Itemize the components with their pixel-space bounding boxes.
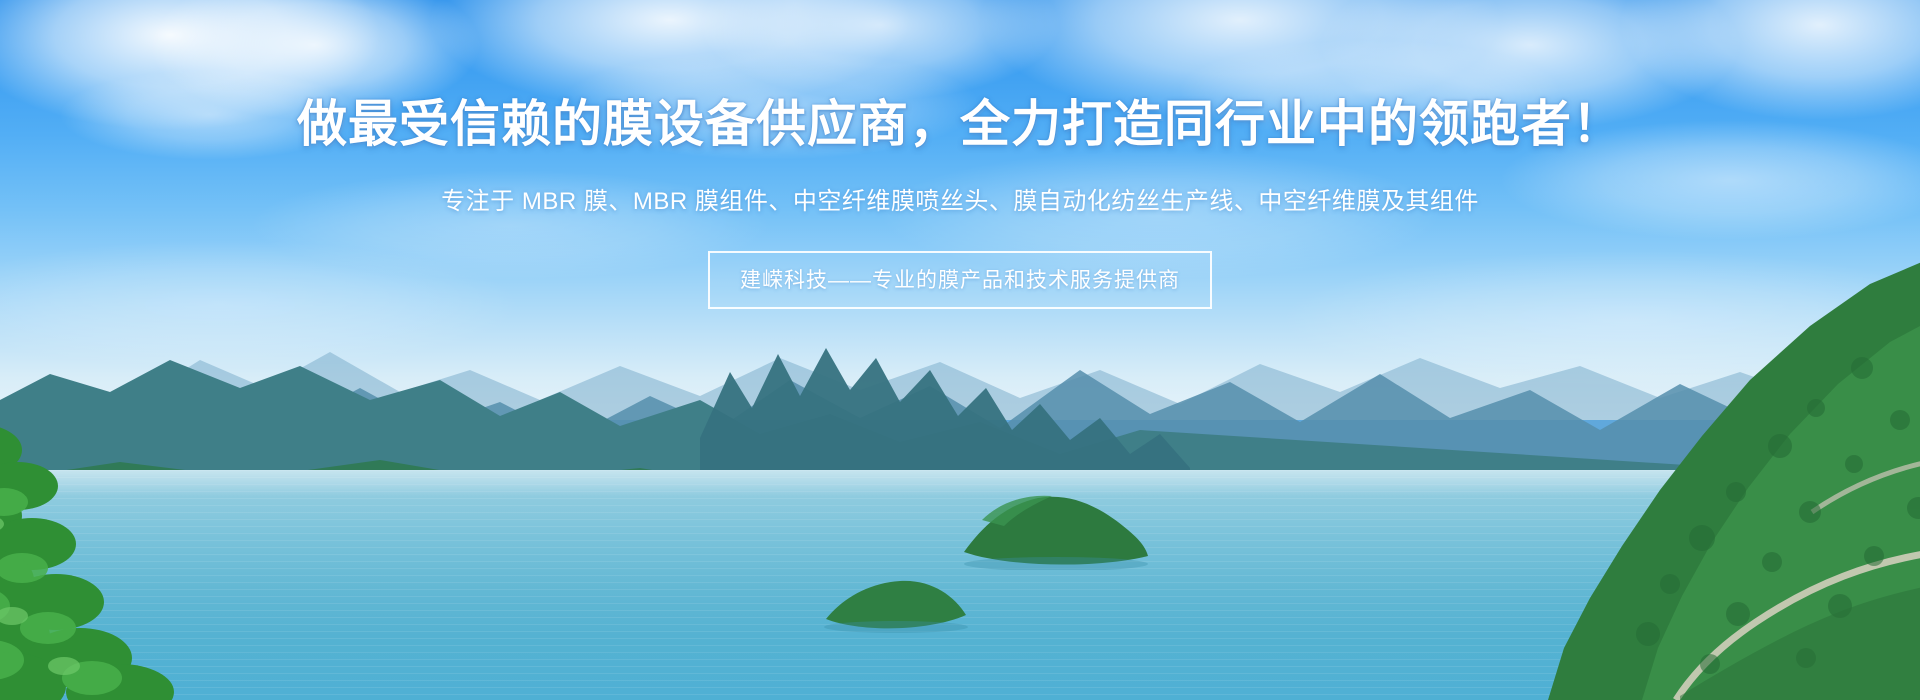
hero-banner: 做最受信赖的膜设备供应商，全力打造同行业中的领跑者！ 专注于 MBR 膜、MBR…	[0, 0, 1920, 700]
banner-tagline-box: 建嵘科技——专业的膜产品和技术服务提供商	[708, 251, 1212, 309]
banner-headline: 做最受信赖的膜设备供应商，全力打造同行业中的领跑者！	[297, 98, 1623, 151]
banner-subheadline: 专注于 MBR 膜、MBR 膜组件、中空纤维膜喷丝头、膜自动化纺丝生产线、中空纤…	[441, 181, 1479, 216]
banner-content: 做最受信赖的膜设备供应商，全力打造同行业中的领跑者！ 专注于 MBR 膜、MBR…	[0, 0, 1920, 700]
